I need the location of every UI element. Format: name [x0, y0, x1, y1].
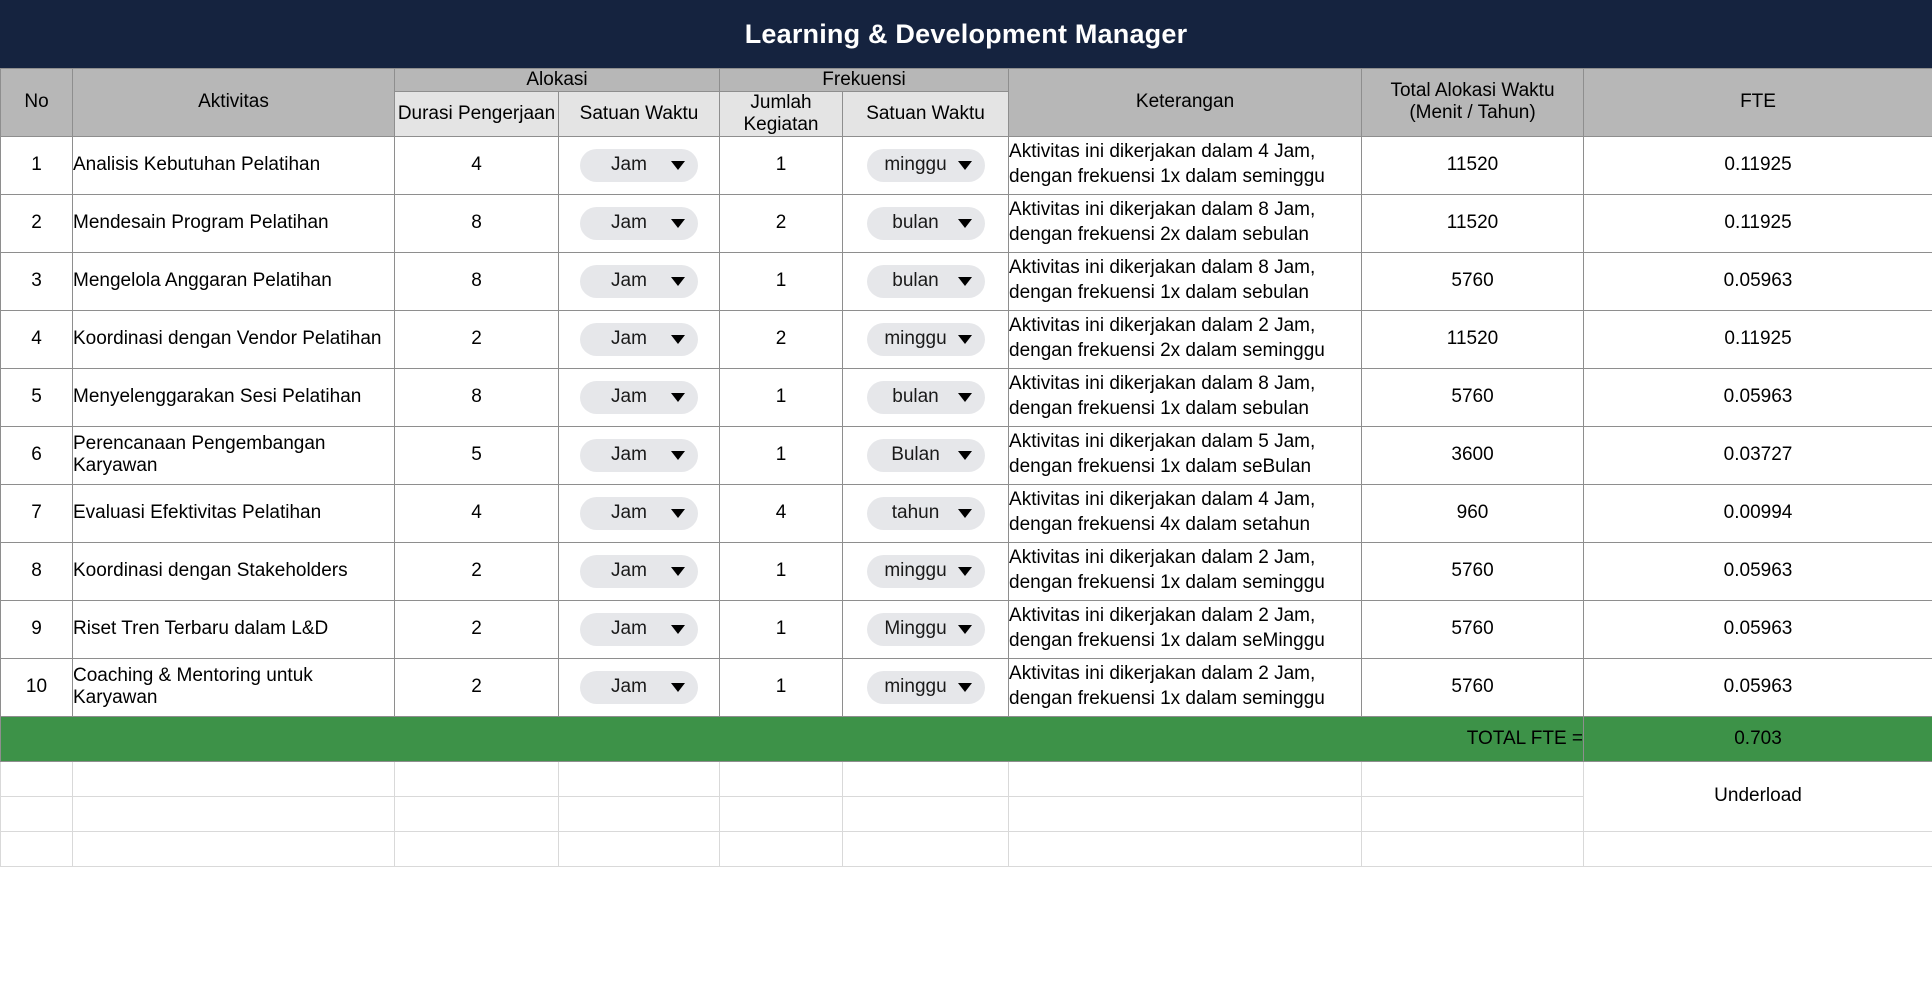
cell-satuan-waktu-alokasi: Jam [559, 136, 720, 194]
col-header-aktivitas: Aktivitas [73, 69, 395, 137]
col-header-jumlah-kegiatan: Jumlah Kegiatan [720, 91, 843, 136]
blank-cell [1584, 831, 1932, 866]
cell-keterangan: Aktivitas ini dikerjakan dalam 2 Jam, de… [1009, 310, 1362, 368]
cell-no: 7 [1, 484, 73, 542]
satuan-waktu-frekuensi-dropdown[interactable]: Minggu [867, 613, 985, 646]
cell-total-alokasi: 11520 [1362, 310, 1584, 368]
blank-row: Underload [1, 761, 1932, 796]
col-header-total-alokasi: Total Alokasi Waktu (Menit / Tahun) [1362, 69, 1584, 137]
col-header-frekuensi: Frekuensi [720, 69, 1009, 92]
blank-cell [73, 831, 395, 866]
table-row: 10Coaching & Mentoring untuk Karyawan2Ja… [1, 658, 1932, 716]
dropdown-label: tahun [882, 502, 954, 524]
blank-cell [1362, 796, 1584, 831]
dropdown-label: Jam [595, 154, 667, 176]
blank-cell [1362, 761, 1584, 796]
cell-keterangan: Aktivitas ini dikerjakan dalam 8 Jam, de… [1009, 368, 1362, 426]
satuan-waktu-frekuensi-dropdown[interactable]: minggu [867, 149, 985, 182]
blank-cell [1009, 761, 1362, 796]
cell-aktivitas: Koordinasi dengan Vendor Pelatihan [73, 310, 395, 368]
chevron-down-icon [958, 335, 972, 344]
cell-satuan-waktu-frekuensi: minggu [843, 542, 1009, 600]
cell-aktivitas: Evaluasi Efektivitas Pelatihan [73, 484, 395, 542]
cell-satuan-waktu-frekuensi: minggu [843, 136, 1009, 194]
total-fte-row: TOTAL FTE = 0.703 [1, 716, 1932, 761]
satuan-waktu-alokasi-dropdown[interactable]: Jam [580, 149, 698, 182]
cell-keterangan: Aktivitas ini dikerjakan dalam 2 Jam, de… [1009, 600, 1362, 658]
cell-no: 10 [1, 658, 73, 716]
dropdown-label: Jam [595, 444, 667, 466]
table-row: 6Perencanaan Pengembangan Karyawan5Jam1B… [1, 426, 1932, 484]
blank-cell [843, 831, 1009, 866]
blank-cell [1362, 831, 1584, 866]
blank-cell [1009, 831, 1362, 866]
cell-durasi: 8 [395, 368, 559, 426]
chevron-down-icon [958, 277, 972, 286]
page-title: Learning & Development Manager [745, 19, 1188, 50]
cell-total-alokasi: 11520 [1362, 136, 1584, 194]
table-body: 1Analisis Kebutuhan Pelatihan4Jam1minggu… [1, 136, 1932, 716]
cell-satuan-waktu-alokasi: Jam [559, 194, 720, 252]
dropdown-label: bulan [882, 386, 954, 408]
blank-cell [559, 761, 720, 796]
dropdown-label: minggu [882, 560, 954, 582]
cell-durasi: 8 [395, 194, 559, 252]
cell-fte: 0.05963 [1584, 658, 1932, 716]
blank-cell [1, 831, 73, 866]
chevron-down-icon [671, 393, 685, 402]
satuan-waktu-frekuensi-dropdown[interactable]: tahun [867, 497, 985, 530]
dropdown-label: Jam [595, 212, 667, 234]
cell-fte: 0.11925 [1584, 194, 1932, 252]
chevron-down-icon [671, 567, 685, 576]
cell-keterangan: Aktivitas ini dikerjakan dalam 4 Jam, de… [1009, 484, 1362, 542]
blank-cell [720, 831, 843, 866]
cell-total-alokasi: 11520 [1362, 194, 1584, 252]
total-fte-value: 0.703 [1584, 716, 1932, 761]
blank-cell [73, 761, 395, 796]
cell-satuan-waktu-alokasi: Jam [559, 542, 720, 600]
satuan-waktu-alokasi-dropdown[interactable]: Jam [580, 207, 698, 240]
col-header-total-alokasi-line2: (Menit / Tahun) [1362, 102, 1583, 124]
chevron-down-icon [671, 451, 685, 460]
table-row: 5Menyelenggarakan Sesi Pelatihan8Jam1bul… [1, 368, 1932, 426]
table-row: 8Koordinasi dengan Stakeholders2Jam1ming… [1, 542, 1932, 600]
dropdown-label: Bulan [882, 444, 954, 466]
blank-cell [559, 796, 720, 831]
cell-total-alokasi: 5760 [1362, 542, 1584, 600]
dropdown-label: minggu [882, 328, 954, 350]
dropdown-label: bulan [882, 212, 954, 234]
cell-jumlah-kegiatan: 2 [720, 194, 843, 252]
blank-cell [1009, 796, 1362, 831]
cell-aktivitas: Koordinasi dengan Stakeholders [73, 542, 395, 600]
col-header-alokasi: Alokasi [395, 69, 720, 92]
table-row: 2Mendesain Program Pelatihan8Jam2bulanAk… [1, 194, 1932, 252]
cell-durasi: 4 [395, 484, 559, 542]
cell-satuan-waktu-frekuensi: Bulan [843, 426, 1009, 484]
cell-total-alokasi: 5760 [1362, 252, 1584, 310]
cell-satuan-waktu-frekuensi: minggu [843, 658, 1009, 716]
satuan-waktu-alokasi-dropdown[interactable]: Jam [580, 613, 698, 646]
cell-durasi: 2 [395, 658, 559, 716]
cell-no: 2 [1, 194, 73, 252]
cell-satuan-waktu-frekuensi: tahun [843, 484, 1009, 542]
cell-aktivitas: Coaching & Mentoring untuk Karyawan [73, 658, 395, 716]
table-row: 9Riset Tren Terbaru dalam L&D2Jam1Minggu… [1, 600, 1932, 658]
col-header-satuan-waktu-frekuensi: Satuan Waktu [843, 91, 1009, 136]
cell-jumlah-kegiatan: 1 [720, 426, 843, 484]
fte-table: No Aktivitas Alokasi Frekuensi Keteranga… [0, 68, 1932, 867]
chevron-down-icon [671, 625, 685, 634]
cell-jumlah-kegiatan: 1 [720, 658, 843, 716]
cell-aktivitas: Menyelenggarakan Sesi Pelatihan [73, 368, 395, 426]
cell-jumlah-kegiatan: 1 [720, 136, 843, 194]
chevron-down-icon [671, 219, 685, 228]
dropdown-label: bulan [882, 270, 954, 292]
cell-no: 6 [1, 426, 73, 484]
header-row-top: No Aktivitas Alokasi Frekuensi Keteranga… [1, 69, 1932, 92]
cell-fte: 0.05963 [1584, 600, 1932, 658]
table-row: 7Evaluasi Efektivitas Pelatihan4Jam4tahu… [1, 484, 1932, 542]
satuan-waktu-alokasi-dropdown[interactable]: Jam [580, 497, 698, 530]
blank-cell [559, 831, 720, 866]
cell-satuan-waktu-alokasi: Jam [559, 484, 720, 542]
chevron-down-icon [958, 161, 972, 170]
cell-satuan-waktu-alokasi: Jam [559, 310, 720, 368]
col-header-satuan-waktu-alokasi: Satuan Waktu [559, 91, 720, 136]
satuan-waktu-frekuensi-dropdown[interactable]: bulan [867, 265, 985, 298]
cell-durasi: 2 [395, 310, 559, 368]
chevron-down-icon [958, 451, 972, 460]
cell-satuan-waktu-frekuensi: bulan [843, 368, 1009, 426]
cell-satuan-waktu-alokasi: Jam [559, 600, 720, 658]
cell-fte: 0.03727 [1584, 426, 1932, 484]
fte-worksheet: Learning & Development Manager No Aktivi… [0, 0, 1932, 1006]
blank-cell [1, 761, 73, 796]
chevron-down-icon [958, 509, 972, 518]
chevron-down-icon [958, 567, 972, 576]
satuan-waktu-alokasi-dropdown[interactable]: Jam [580, 671, 698, 704]
chevron-down-icon [671, 161, 685, 170]
col-header-total-alokasi-line1: Total Alokasi Waktu [1362, 80, 1583, 102]
cell-satuan-waktu-alokasi: Jam [559, 252, 720, 310]
chevron-down-icon [671, 683, 685, 692]
cell-fte: 0.05963 [1584, 368, 1932, 426]
col-header-fte: FTE [1584, 69, 1932, 137]
chevron-down-icon [958, 625, 972, 634]
chevron-down-icon [671, 509, 685, 518]
cell-satuan-waktu-frekuensi: bulan [843, 194, 1009, 252]
cell-keterangan: Aktivitas ini dikerjakan dalam 5 Jam, de… [1009, 426, 1362, 484]
cell-aktivitas: Analisis Kebutuhan Pelatihan [73, 136, 395, 194]
blank-row [1, 831, 1932, 866]
dropdown-label: Jam [595, 618, 667, 640]
satuan-waktu-frekuensi-dropdown[interactable]: bulan [867, 207, 985, 240]
cell-no: 3 [1, 252, 73, 310]
table-row: 1Analisis Kebutuhan Pelatihan4Jam1minggu… [1, 136, 1932, 194]
cell-aktivitas: Mendesain Program Pelatihan [73, 194, 395, 252]
satuan-waktu-alokasi-dropdown[interactable]: Jam [580, 439, 698, 472]
cell-satuan-waktu-alokasi: Jam [559, 368, 720, 426]
cell-fte: 0.05963 [1584, 542, 1932, 600]
dropdown-label: Jam [595, 676, 667, 698]
col-header-durasi-pengerjaan: Durasi Pengerjaan [395, 91, 559, 136]
cell-keterangan: Aktivitas ini dikerjakan dalam 2 Jam, de… [1009, 542, 1362, 600]
cell-total-alokasi: 5760 [1362, 368, 1584, 426]
cell-fte: 0.00994 [1584, 484, 1932, 542]
cell-fte: 0.11925 [1584, 136, 1932, 194]
chevron-down-icon [958, 683, 972, 692]
cell-durasi: 2 [395, 600, 559, 658]
satuan-waktu-frekuensi-dropdown[interactable]: minggu [867, 671, 985, 704]
cell-no: 4 [1, 310, 73, 368]
blank-cell [843, 796, 1009, 831]
satuan-waktu-frekuensi-dropdown[interactable]: bulan [867, 381, 985, 414]
dropdown-label: minggu [882, 154, 954, 176]
col-header-no: No [1, 69, 73, 137]
cell-jumlah-kegiatan: 2 [720, 310, 843, 368]
cell-keterangan: Aktivitas ini dikerjakan dalam 2 Jam, de… [1009, 658, 1362, 716]
table-foot: TOTAL FTE = 0.703 Underload [1, 716, 1932, 866]
blank-cell [843, 761, 1009, 796]
dropdown-label: Jam [595, 328, 667, 350]
page-title-bar: Learning & Development Manager [0, 0, 1932, 68]
cell-durasi: 4 [395, 136, 559, 194]
table-row: 3Mengelola Anggaran Pelatihan8Jam1bulanA… [1, 252, 1932, 310]
col-header-keterangan: Keterangan [1009, 69, 1362, 137]
cell-aktivitas: Riset Tren Terbaru dalam L&D [73, 600, 395, 658]
cell-satuan-waktu-frekuensi: minggu [843, 310, 1009, 368]
blank-cell [1, 796, 73, 831]
blank-cell [73, 796, 395, 831]
cell-durasi: 2 [395, 542, 559, 600]
satuan-waktu-alokasi-dropdown[interactable]: Jam [580, 381, 698, 414]
satuan-waktu-frekuensi-dropdown[interactable]: minggu [867, 555, 985, 588]
chevron-down-icon [671, 335, 685, 344]
cell-jumlah-kegiatan: 1 [720, 368, 843, 426]
cell-keterangan: Aktivitas ini dikerjakan dalam 8 Jam, de… [1009, 252, 1362, 310]
cell-satuan-waktu-alokasi: Jam [559, 426, 720, 484]
satuan-waktu-frekuensi-dropdown[interactable]: minggu [867, 323, 985, 356]
cell-aktivitas: Perencanaan Pengembangan Karyawan [73, 426, 395, 484]
cell-durasi: 5 [395, 426, 559, 484]
dropdown-label: Jam [595, 560, 667, 582]
blank-cell [395, 831, 559, 866]
satuan-waktu-alokasi-dropdown[interactable]: Jam [580, 323, 698, 356]
cell-no: 5 [1, 368, 73, 426]
cell-jumlah-kegiatan: 1 [720, 600, 843, 658]
cell-satuan-waktu-frekuensi: bulan [843, 252, 1009, 310]
cell-durasi: 8 [395, 252, 559, 310]
cell-total-alokasi: 5760 [1362, 600, 1584, 658]
satuan-waktu-alokasi-dropdown[interactable]: Jam [580, 555, 698, 588]
dropdown-label: minggu [882, 676, 954, 698]
cell-no: 1 [1, 136, 73, 194]
satuan-waktu-frekuensi-dropdown[interactable]: Bulan [867, 439, 985, 472]
total-fte-label: TOTAL FTE = [1, 716, 1584, 761]
chevron-down-icon [958, 219, 972, 228]
cell-aktivitas: Mengelola Anggaran Pelatihan [73, 252, 395, 310]
cell-total-alokasi: 5760 [1362, 658, 1584, 716]
chevron-down-icon [671, 277, 685, 286]
dropdown-label: Jam [595, 386, 667, 408]
cell-fte: 0.05963 [1584, 252, 1932, 310]
cell-no: 9 [1, 600, 73, 658]
blank-cell [395, 761, 559, 796]
chevron-down-icon [958, 393, 972, 402]
cell-keterangan: Aktivitas ini dikerjakan dalam 8 Jam, de… [1009, 194, 1362, 252]
cell-total-alokasi: 3600 [1362, 426, 1584, 484]
blank-cell [720, 761, 843, 796]
cell-keterangan: Aktivitas ini dikerjakan dalam 4 Jam, de… [1009, 136, 1362, 194]
table-head: No Aktivitas Alokasi Frekuensi Keteranga… [1, 69, 1932, 137]
blank-cell [395, 796, 559, 831]
cell-jumlah-kegiatan: 1 [720, 542, 843, 600]
dropdown-label: Jam [595, 270, 667, 292]
status-badge: Underload [1584, 761, 1932, 831]
cell-satuan-waktu-frekuensi: Minggu [843, 600, 1009, 658]
dropdown-label: Jam [595, 502, 667, 524]
cell-jumlah-kegiatan: 1 [720, 252, 843, 310]
table-row: 4Koordinasi dengan Vendor Pelatihan2Jam2… [1, 310, 1932, 368]
cell-jumlah-kegiatan: 4 [720, 484, 843, 542]
blank-cell [720, 796, 843, 831]
dropdown-label: Minggu [882, 618, 954, 640]
cell-total-alokasi: 960 [1362, 484, 1584, 542]
cell-satuan-waktu-alokasi: Jam [559, 658, 720, 716]
satuan-waktu-alokasi-dropdown[interactable]: Jam [580, 265, 698, 298]
cell-no: 8 [1, 542, 73, 600]
cell-fte: 0.11925 [1584, 310, 1932, 368]
